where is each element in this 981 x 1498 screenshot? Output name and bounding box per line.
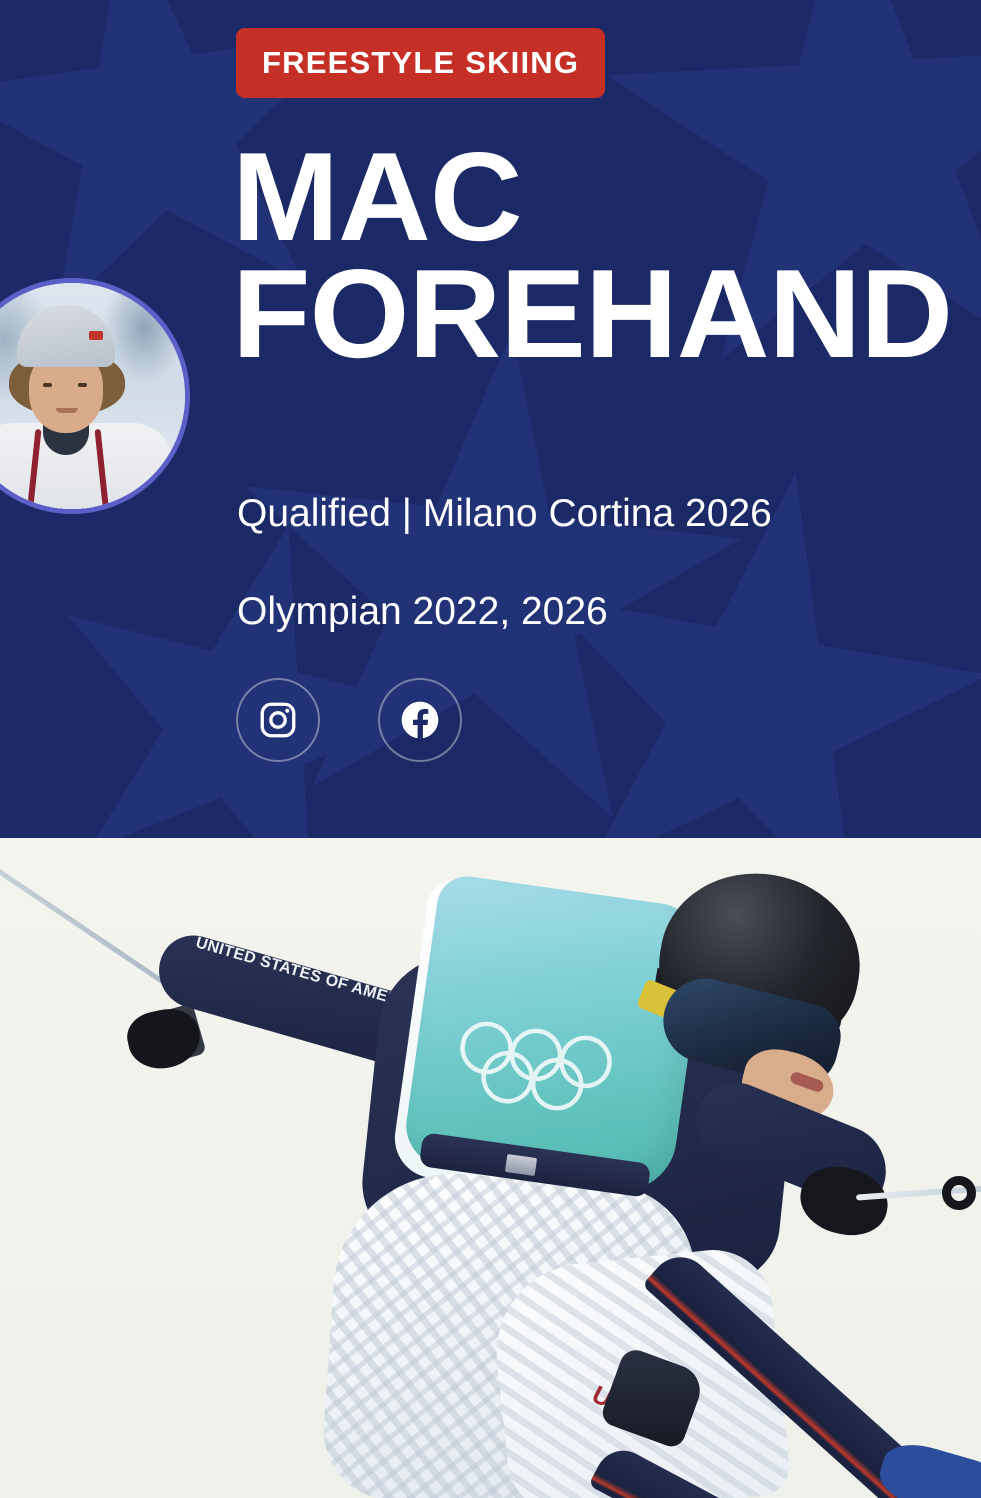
avatar-photo — [0, 283, 185, 509]
facebook-icon — [398, 698, 442, 742]
instagram-icon — [257, 699, 299, 741]
athlete-profile-page: FREESTYLE SKIING MAC FOREHAND Qualified … — [0, 0, 981, 1498]
avatar[interactable] — [0, 303, 190, 489]
athlete-first-name: MAC — [232, 138, 981, 255]
avatar-eye — [78, 383, 87, 387]
ski-pole-basket — [941, 1175, 977, 1211]
social-link-instagram[interactable] — [236, 678, 320, 762]
hero-content: FREESTYLE SKIING MAC FOREHAND Qualified … — [236, 0, 956, 838]
social-links — [236, 678, 462, 762]
avatar-mouth — [56, 408, 78, 413]
qualification-status: Qualified | Milano Cortina 2026 — [237, 492, 772, 536]
sport-badge[interactable]: FREESTYLE SKIING — [236, 28, 605, 98]
avatar-eye — [43, 383, 52, 387]
social-link-facebook[interactable] — [378, 678, 462, 762]
athlete-hero-header: FREESTYLE SKIING MAC FOREHAND Qualified … — [0, 0, 981, 838]
page-title: MAC FOREHAND — [232, 138, 981, 372]
olympian-years: Olympian 2022, 2026 — [237, 590, 608, 634]
action-photo: UNITED STATES OF AMERICA USA — [0, 838, 981, 1498]
athlete-last-name: FOREHAND — [232, 255, 981, 372]
